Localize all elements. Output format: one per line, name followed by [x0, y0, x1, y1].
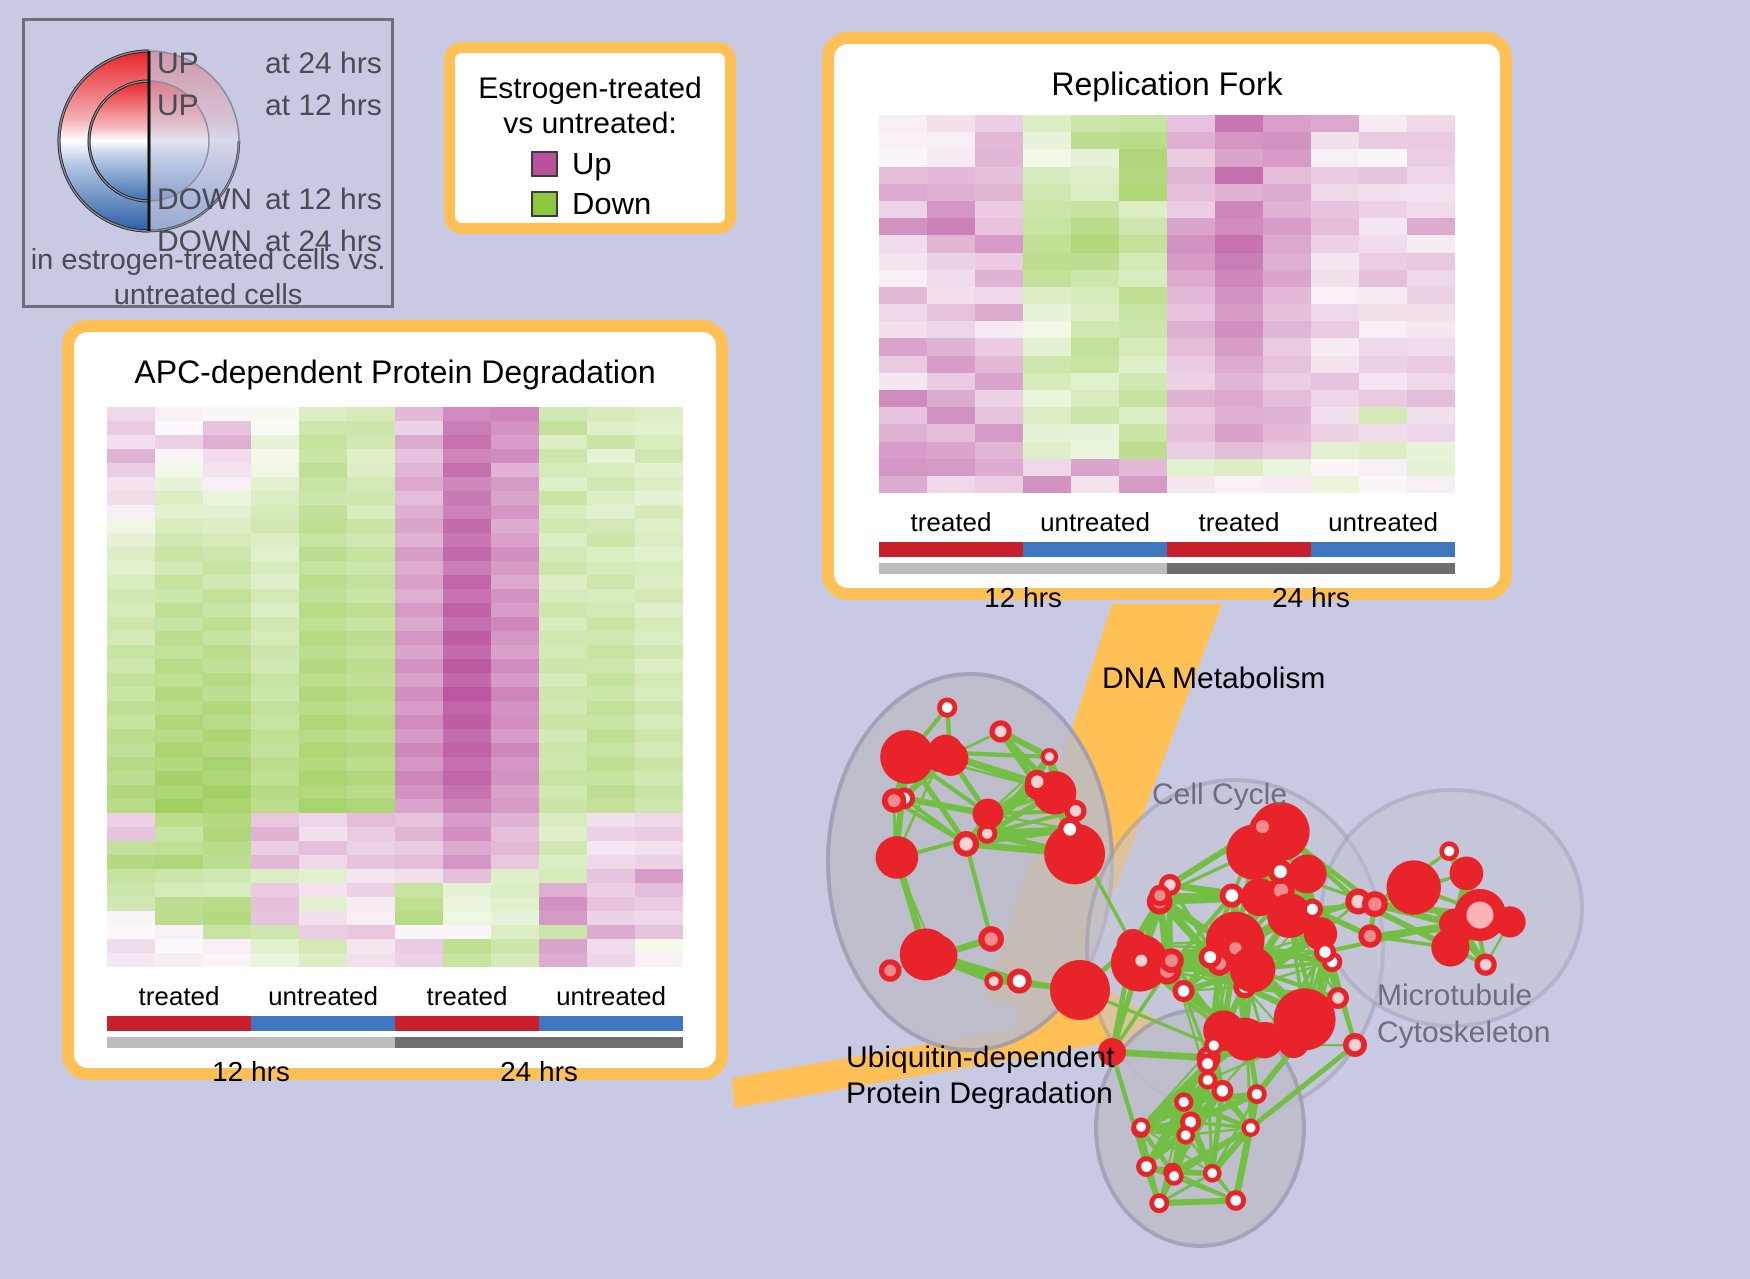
heatmap-cell	[539, 883, 587, 897]
heatmap-cell	[539, 435, 587, 449]
heatmap-cell	[1119, 184, 1167, 201]
heatmap-cell	[107, 631, 155, 645]
heatmap-cell	[1263, 253, 1311, 270]
heatmap-cell	[1119, 304, 1167, 321]
heatmap-cell	[539, 533, 587, 547]
heatmap-cell	[347, 701, 395, 715]
heatmap-cell	[1119, 149, 1167, 166]
heatmap-cell	[347, 925, 395, 939]
heatmap-cell	[1311, 270, 1359, 287]
heatmap-cell	[635, 883, 683, 897]
heatmap-cell	[587, 463, 635, 477]
heatmap-cell	[1167, 407, 1215, 424]
network-node	[1387, 860, 1441, 914]
heatmap-cell	[587, 925, 635, 939]
heatmap-cell	[1311, 321, 1359, 338]
heatmap-cell	[251, 925, 299, 939]
heatmap-cell	[107, 617, 155, 631]
heatmap-cell	[155, 477, 203, 491]
heatmap-cell	[251, 463, 299, 477]
heatmap-cell	[203, 645, 251, 659]
heatmap-cell	[927, 356, 975, 373]
heatmap-cell	[251, 673, 299, 687]
treatment-bar-segment	[251, 1016, 395, 1031]
heatmap-cell	[299, 757, 347, 771]
panel-replication-fork: Replication Fork treated untreated treat…	[822, 32, 1512, 600]
heatmap-cell	[251, 701, 299, 715]
heatmap-cell	[927, 270, 975, 287]
heatmap-cell	[155, 463, 203, 477]
heatmap-cell	[539, 757, 587, 771]
heatmap-cell	[587, 673, 635, 687]
heatmap-cell	[1071, 476, 1119, 493]
heatmap-cell	[879, 132, 927, 149]
group-label: treated	[879, 507, 1023, 538]
heatmap-cell	[107, 757, 155, 771]
heatmap-cell	[539, 841, 587, 855]
network-node	[1045, 752, 1054, 761]
heatmap-cell	[395, 561, 443, 575]
down-swatch-icon	[531, 191, 558, 217]
color-key-row: DOWN at 12 hrs	[157, 183, 395, 225]
heatmap-cell	[1263, 304, 1311, 321]
group-label: treated	[1167, 507, 1311, 538]
heatmap-cell	[879, 201, 927, 218]
heatmap-cell	[107, 701, 155, 715]
network-node	[1444, 846, 1454, 856]
heatmap-cell	[1311, 115, 1359, 132]
heatmap-cell	[251, 869, 299, 883]
heatmap-cell	[107, 407, 155, 421]
heatmap-cell	[975, 184, 1023, 201]
heatmap-cell	[927, 476, 975, 493]
heatmap-cell	[443, 953, 491, 967]
heatmap-cell	[1359, 321, 1407, 338]
heatmap-cell	[203, 631, 251, 645]
heatmap-cell	[347, 743, 395, 757]
heatmap-cell	[539, 659, 587, 673]
heatmap-cell	[635, 897, 683, 911]
network-node	[888, 794, 901, 807]
heatmap-cell	[635, 561, 683, 575]
heatmap-cell	[395, 743, 443, 757]
heatmap-cell	[395, 757, 443, 771]
network-node	[1301, 1004, 1332, 1035]
heatmap-cell	[1215, 338, 1263, 355]
heatmap-cell	[1071, 356, 1119, 373]
network-node	[959, 837, 972, 850]
heatmap-cell	[1263, 321, 1311, 338]
heatmap-cell	[443, 897, 491, 911]
heatmap-cell	[491, 757, 539, 771]
heatmap-cell	[1167, 476, 1215, 493]
heatmap-cell	[443, 589, 491, 603]
heatmap-cell	[347, 855, 395, 869]
heatmap-cell	[1263, 356, 1311, 373]
heatmap-cell	[443, 407, 491, 421]
heatmap-cell	[1407, 459, 1455, 476]
heatmap-cell	[879, 253, 927, 270]
heatmap-cell	[539, 561, 587, 575]
heatmap-cell	[1263, 338, 1311, 355]
heatmap-cell	[491, 729, 539, 743]
heatmap-cell	[539, 673, 587, 687]
heatmap-cell	[587, 449, 635, 463]
heatmap-cell	[879, 338, 927, 355]
heatmap-cell	[395, 575, 443, 589]
heatmap-cell	[1359, 304, 1407, 321]
timepoint-bar-segment	[1167, 563, 1455, 574]
heatmap-cell	[587, 785, 635, 799]
heatmap-cell	[107, 897, 155, 911]
heatmap-cell	[539, 491, 587, 505]
heatmap-cell	[1263, 167, 1311, 184]
heatmap-cell	[443, 911, 491, 925]
heatmap-cell	[1311, 184, 1359, 201]
heatmap-cell	[299, 897, 347, 911]
heatmap-cell	[539, 729, 587, 743]
heatmap-cell	[975, 287, 1023, 304]
heatmap-cell	[1167, 115, 1215, 132]
heatmap-cell	[1407, 149, 1455, 166]
heatmap-cell	[395, 911, 443, 925]
heatmap-cell	[155, 547, 203, 561]
figure-canvas: UP at 24 hrs UP at 12 hrs DOWN at 12 hrs…	[0, 0, 1750, 1279]
network-node	[1217, 1085, 1228, 1096]
group-label: untreated	[251, 981, 395, 1012]
heatmap-cell	[155, 701, 203, 715]
heatmap-cell	[1263, 476, 1311, 493]
heatmap-cell	[927, 201, 975, 218]
heatmap-cell	[491, 785, 539, 799]
heatmap-cell	[1407, 356, 1455, 373]
heatmap-cell	[927, 373, 975, 390]
heatmap-cell	[251, 421, 299, 435]
heatmap-cell	[107, 911, 155, 925]
treatment-bar-segment	[1167, 542, 1311, 557]
heatmap-cell	[299, 869, 347, 883]
heatmap-cell	[491, 435, 539, 449]
heatmap-cell	[203, 715, 251, 729]
cluster-label-cell-cycle: Cell Cycle	[1152, 778, 1287, 812]
heatmap-cell	[879, 356, 927, 373]
heatmap-cell	[635, 743, 683, 757]
heatmap-cell	[107, 687, 155, 701]
heatmap-cell	[635, 547, 683, 561]
heatmap-cell	[299, 673, 347, 687]
network-node	[915, 935, 957, 977]
heatmap-cell	[975, 356, 1023, 373]
heatmap-cell	[539, 547, 587, 561]
heatmap-cell	[1263, 218, 1311, 235]
heatmap-cell	[539, 449, 587, 463]
heatmap-cell	[299, 771, 347, 785]
heatmap-cell	[587, 827, 635, 841]
network-node	[1136, 1122, 1146, 1132]
heatmap-cell	[299, 575, 347, 589]
heatmap-cell	[395, 869, 443, 883]
heatmap-cell	[927, 287, 975, 304]
heatmap-cell	[443, 785, 491, 799]
heatmap-cell	[1359, 424, 1407, 441]
heatmap-cell	[299, 603, 347, 617]
heatmap-cell	[443, 491, 491, 505]
heatmap-cell	[879, 287, 927, 304]
heatmap-cell	[491, 421, 539, 435]
heatmap-cell	[107, 883, 155, 897]
heatmap-cell	[1407, 235, 1455, 252]
heatmap-cell	[443, 827, 491, 841]
heatmap-cell	[203, 869, 251, 883]
legend-down-label: Down	[572, 186, 651, 222]
heatmap-cell	[975, 321, 1023, 338]
heatmap-cell	[879, 476, 927, 493]
network-node	[1070, 805, 1081, 816]
heatmap-cell	[1311, 287, 1359, 304]
heatmap-cell	[491, 701, 539, 715]
heatmap-cell	[927, 321, 975, 338]
heatmap-cell	[1215, 201, 1263, 218]
heatmap-cell	[1023, 184, 1071, 201]
heatmap-cell	[155, 617, 203, 631]
legend-title: Estrogen-treated vs untreated:	[455, 53, 725, 142]
heatmap-cell	[879, 184, 927, 201]
heatmap-cell	[539, 869, 587, 883]
heatmap-cell	[1071, 304, 1119, 321]
heatmap-cell	[1359, 253, 1407, 270]
network-node	[1278, 1027, 1309, 1058]
heatmap-cell	[347, 477, 395, 491]
heatmap-cell	[927, 253, 975, 270]
heatmap-cell	[1071, 132, 1119, 149]
heatmap-cell	[1311, 442, 1359, 459]
heatmap-cell	[975, 459, 1023, 476]
treatment-color-bar	[107, 1016, 683, 1031]
heatmap-cell	[395, 897, 443, 911]
heatmap-cell	[1215, 218, 1263, 235]
heatmap-cell	[1167, 321, 1215, 338]
heatmap-cell	[155, 799, 203, 813]
heatmap-cell	[299, 841, 347, 855]
heatmap-cell	[395, 953, 443, 967]
heatmap-cell	[395, 463, 443, 477]
heatmap-cell	[443, 519, 491, 533]
network-node	[1209, 1040, 1219, 1050]
heatmap-cell	[203, 911, 251, 925]
heatmap-cell	[395, 687, 443, 701]
heatmap-cell	[635, 911, 683, 925]
legend-item-up: Up	[455, 146, 725, 182]
heatmap-cell	[1311, 356, 1359, 373]
heatmap-cell	[299, 729, 347, 743]
key-direction: DOWN	[157, 183, 265, 217]
heatmap-cell	[251, 911, 299, 925]
timepoint-color-bar	[879, 563, 1455, 574]
heatmap-cell	[443, 547, 491, 561]
heatmap-cell	[1215, 356, 1263, 373]
heatmap-cell	[155, 589, 203, 603]
heatmap-cell	[443, 771, 491, 785]
heatmap-cell	[347, 659, 395, 673]
heatmap-cell	[107, 491, 155, 505]
heatmap-cell	[587, 631, 635, 645]
heatmap-cell	[1215, 149, 1263, 166]
heatmap-cell	[927, 235, 975, 252]
heatmap-cell	[635, 953, 683, 967]
heatmap-cell	[1263, 459, 1311, 476]
heatmap-cell	[299, 449, 347, 463]
heatmap-cell	[1215, 407, 1263, 424]
heatmap-cell	[203, 785, 251, 799]
heatmap-cell	[1119, 407, 1167, 424]
heatmap-cell	[1119, 115, 1167, 132]
treatment-color-bar	[879, 542, 1455, 557]
heatmap-cell	[203, 477, 251, 491]
group-label-row: treated untreated treated untreated	[107, 981, 683, 1012]
heatmap-cell	[587, 939, 635, 953]
heatmap-cell	[347, 869, 395, 883]
heatmap-cell	[587, 505, 635, 519]
heatmap-cell	[1071, 167, 1119, 184]
heatmap-cell	[203, 589, 251, 603]
heatmap-cell	[1119, 218, 1167, 235]
heatmap-cell	[635, 519, 683, 533]
panel-title: Replication Fork	[834, 66, 1500, 103]
heatmap-cell	[1023, 304, 1071, 321]
heatmap-cell	[927, 218, 975, 235]
heatmap-cell	[203, 533, 251, 547]
heatmap-cell	[975, 167, 1023, 184]
heatmap-cell	[203, 701, 251, 715]
heatmap-cell	[203, 673, 251, 687]
heatmap-cell	[251, 659, 299, 673]
heatmap-cell	[155, 533, 203, 547]
heatmap-cell	[299, 589, 347, 603]
network-node	[1154, 890, 1165, 901]
network-node	[1230, 947, 1276, 993]
heatmap-cell	[635, 491, 683, 505]
heatmap-cell	[251, 715, 299, 729]
heatmap-cell	[587, 729, 635, 743]
heatmap-cell	[1359, 115, 1407, 132]
heatmap-cell	[395, 659, 443, 673]
heatmap-cell	[1311, 167, 1359, 184]
heatmap-cell	[1023, 149, 1071, 166]
heatmap-cell	[155, 449, 203, 463]
heatmap-cell	[927, 338, 975, 355]
heatmap-cell	[155, 911, 203, 925]
heatmap-cell	[1023, 390, 1071, 407]
heatmap-cell	[539, 519, 587, 533]
heatmap-cell	[107, 659, 155, 673]
cluster-label-dna-metabolism: DNA Metabolism	[1102, 662, 1325, 696]
heatmap-cell	[1407, 424, 1455, 441]
network-node	[1178, 985, 1190, 997]
heatmap-cell	[443, 421, 491, 435]
heatmap-cell	[879, 373, 927, 390]
heatmap-cell	[1119, 287, 1167, 304]
heatmap-cell	[443, 575, 491, 589]
network-edge	[1159, 1200, 1236, 1203]
heatmap-cell	[251, 687, 299, 701]
heatmap-cell	[1167, 459, 1215, 476]
heatmap-cell	[299, 617, 347, 631]
heatmap-cell	[587, 407, 635, 421]
heatmap-cell	[251, 771, 299, 785]
heatmap-cell	[1167, 167, 1215, 184]
heatmap-cell	[347, 911, 395, 925]
heatmap-cell	[395, 477, 443, 491]
heatmap-cell	[491, 505, 539, 519]
network-node	[1154, 1198, 1164, 1208]
heatmap-cell	[1071, 149, 1119, 166]
heatmap-cell	[443, 841, 491, 855]
heatmap-cell	[1263, 270, 1311, 287]
heatmap-cell	[107, 743, 155, 757]
heatmap-cell	[443, 505, 491, 519]
heatmap-cell	[1215, 321, 1263, 338]
heatmap-cell	[1167, 270, 1215, 287]
heatmap-cell	[347, 463, 395, 477]
heatmap-cell	[299, 533, 347, 547]
heatmap-cell	[251, 785, 299, 799]
heatmap-cell	[1215, 115, 1263, 132]
heatmap-cell	[155, 505, 203, 519]
heatmap-cell	[975, 235, 1023, 252]
heatmap-cell	[1263, 149, 1311, 166]
heatmap-cell	[635, 645, 683, 659]
heatmap-cell	[879, 424, 927, 441]
heatmap-cell	[879, 407, 927, 424]
heatmap-cell	[251, 645, 299, 659]
heatmap-cell	[587, 883, 635, 897]
timepoint-label-row: 12 hrs 24 hrs	[107, 1056, 683, 1088]
heatmap-cell	[491, 855, 539, 869]
heatmap-cell	[395, 827, 443, 841]
heatmap-cell	[1071, 184, 1119, 201]
heatmap-cell	[1167, 132, 1215, 149]
group-label: untreated	[1023, 507, 1167, 538]
heatmap-cell	[443, 799, 491, 813]
heatmap-cell	[635, 631, 683, 645]
heatmap-cell	[347, 617, 395, 631]
heatmap-cell	[395, 841, 443, 855]
heatmap-cell	[635, 701, 683, 715]
heatmap-cell	[1071, 390, 1119, 407]
heatmap-cell	[1119, 459, 1167, 476]
heatmap-cell	[443, 701, 491, 715]
heatmap-cell	[879, 442, 927, 459]
heatmap-cell	[1359, 149, 1407, 166]
network-node	[1450, 856, 1484, 890]
heatmap-cell	[1215, 424, 1263, 441]
heatmap-cell	[491, 645, 539, 659]
heatmap-cell	[539, 505, 587, 519]
heatmap-cell	[347, 575, 395, 589]
heatmap-cell	[587, 575, 635, 589]
heatmap-cell	[975, 407, 1023, 424]
color-key-caption: in estrogen-treated cells vs. untreated …	[25, 243, 391, 314]
network-node	[942, 702, 953, 713]
heatmap-cell	[1407, 184, 1455, 201]
heatmap-cell	[155, 855, 203, 869]
heatmap-cell	[443, 659, 491, 673]
heatmap-cell	[1023, 442, 1071, 459]
heatmap-cell	[491, 925, 539, 939]
heatmap-cell	[299, 883, 347, 897]
color-key-spacer	[157, 131, 395, 183]
heatmap-cell	[251, 561, 299, 575]
